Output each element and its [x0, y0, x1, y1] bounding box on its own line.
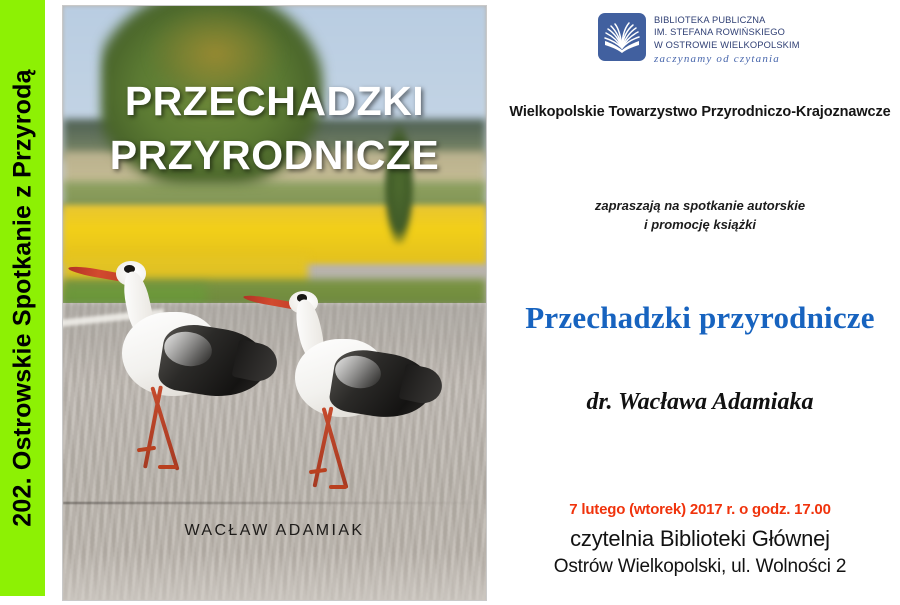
library-logo: BIBLIOTEKA PUBLICZNA IM. STEFANA ROWIŃSK…	[598, 13, 800, 65]
poster-text-column: BIBLIOTEKA PUBLICZNA IM. STEFANA ROWIŃSK…	[500, 0, 900, 605]
event-venue: czytelnia Biblioteki Głównej	[500, 526, 900, 552]
cover-title-line2: PRZYRODNICZE	[63, 128, 486, 182]
library-name-line3: W OSTROWIE WIELKOPOLSKIM	[654, 39, 800, 51]
library-name-line2: IM. STEFANA ROWIŃSKIEGO	[654, 26, 800, 38]
side-banner-label: 202. Ostrowskie Spotkanie z Przyrodą	[8, 69, 37, 526]
open-book-fan-icon	[598, 13, 646, 61]
event-date: 7 lutego (wtorek) 2017 r. o godz. 17.00	[500, 501, 900, 518]
stork-left-body	[110, 255, 271, 445]
stork-right	[283, 285, 435, 463]
road-lower-fade	[63, 552, 486, 600]
road-crack	[63, 502, 486, 504]
library-name-line1: BIBLIOTEKA PUBLICZNA	[654, 14, 800, 26]
stork-right-foot-front	[329, 485, 347, 489]
cover-title: PRZECHADZKI PRZYRODNICZE	[63, 74, 486, 182]
cover-author-name: WACŁAW ADAMIAK	[63, 522, 486, 540]
event-address: Ostrów Wielkopolski, ul. Wolności 2	[500, 556, 900, 578]
library-tagline: zaczynamy od czytania	[654, 53, 800, 65]
side-banner: 202. Ostrowskie Spotkanie z Przyrodą	[0, 0, 45, 596]
book-cover-image: PRZECHADZKI PRZYRODNICZE WACŁAW ADAMIAK	[62, 5, 487, 601]
cover-title-line1: PRZECHADZKI	[63, 74, 486, 128]
stork-right-body	[283, 285, 435, 463]
stork-left	[110, 255, 271, 445]
book-author: dr. Wacława Adamiaka	[500, 389, 900, 416]
library-logo-text: BIBLIOTEKA PUBLICZNA IM. STEFANA ROWIŃSK…	[654, 13, 800, 65]
stork-left-foot-front	[158, 465, 177, 469]
invitation-text: zapraszają na spotkanie autorskie i prom…	[500, 197, 900, 235]
book-title: Przechadzki przyrodnicze	[500, 300, 900, 336]
event-details: 7 lutego (wtorek) 2017 r. o godz. 17.00 …	[500, 501, 900, 578]
invitation-line1: zapraszają na spotkanie autorskie	[500, 197, 900, 216]
invitation-line2: i promocję książki	[500, 216, 900, 235]
organizer-name: Wielkopolskie Towarzystwo Przyrodniczo-K…	[500, 104, 900, 120]
